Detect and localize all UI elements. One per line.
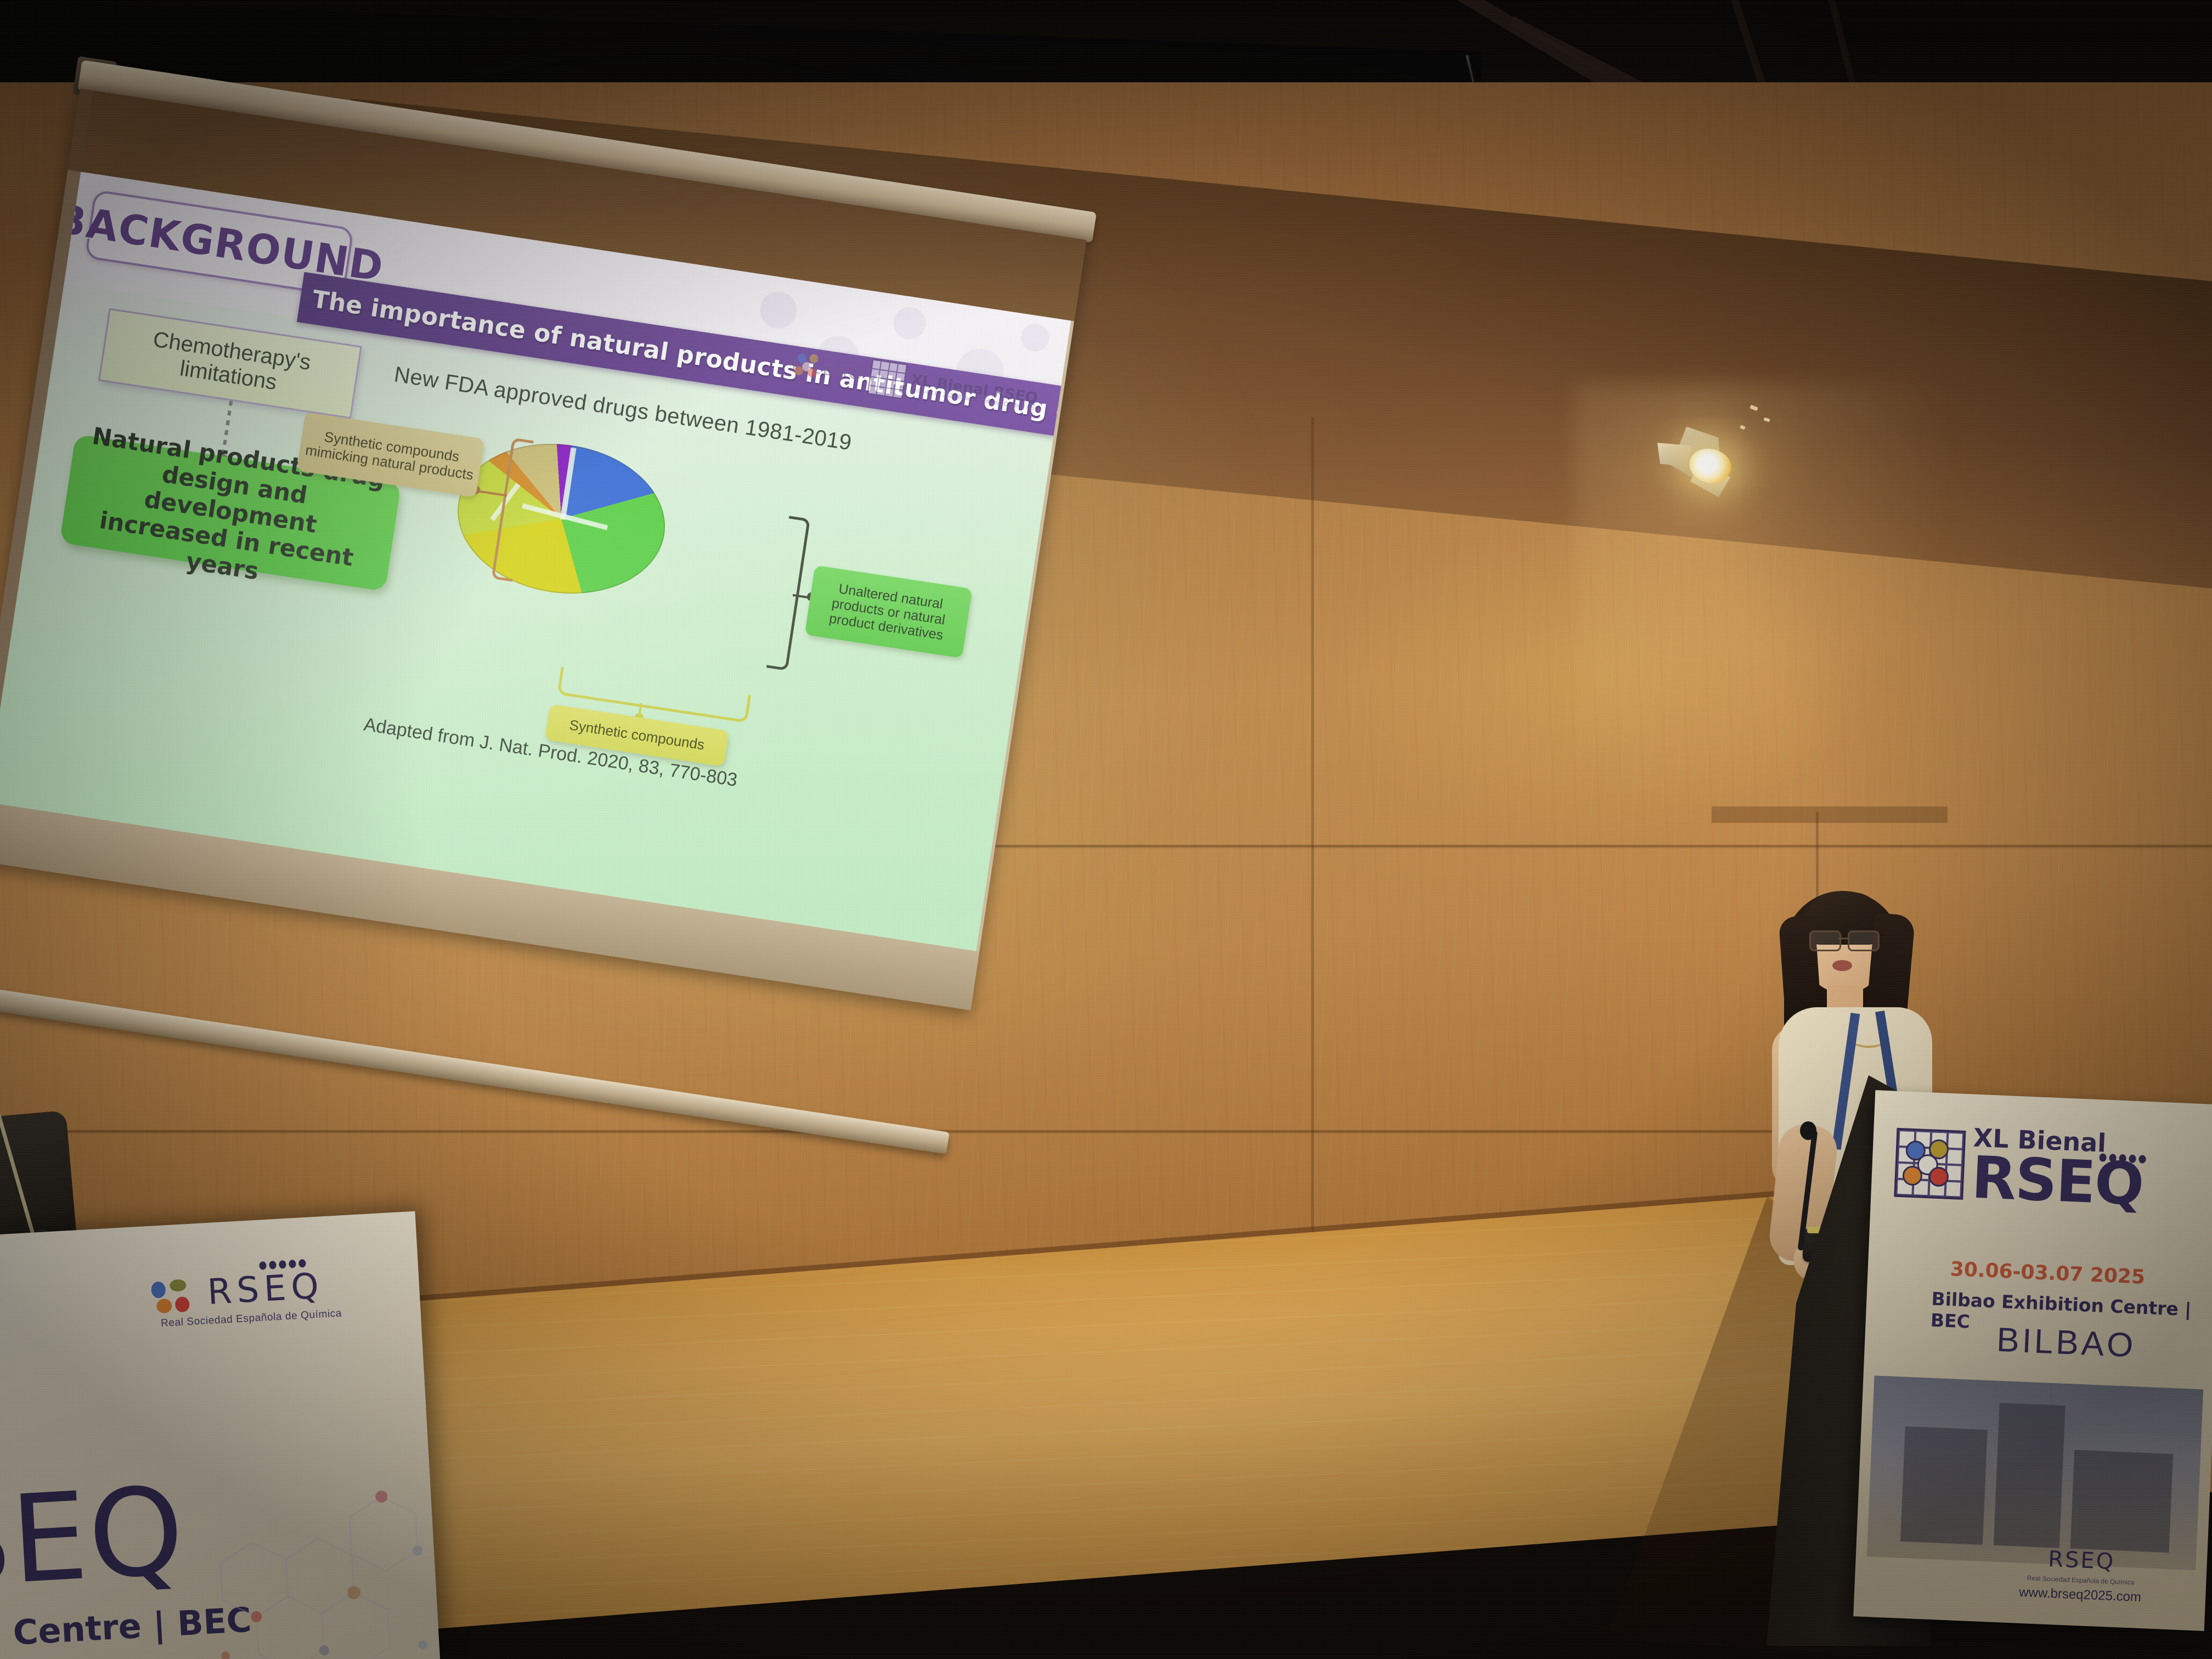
foreground-banner: RSEQ Real Sociedad Española de Química S… [0, 1211, 440, 1659]
bracket-right [766, 516, 810, 671]
banner-big-label: SEQ [0, 1460, 188, 1615]
screen-surface: BACKGROUND The importance of natural pro… [0, 88, 1086, 1010]
banner-big-text: SEQ [0, 1460, 188, 1615]
spotlight-barn-door [1657, 442, 1692, 468]
rseq-molecule-icon [150, 1278, 202, 1316]
podium-photo-image [1867, 1375, 2203, 1570]
projection-screen: BACKGROUND The importance of natural pro… [0, 66, 1227, 1161]
rseq-grid-icon [867, 358, 908, 399]
podium-url: www.brseq2025.com [2019, 1585, 2142, 1605]
mouth [1832, 960, 1852, 971]
stage-chair [0, 1110, 77, 1243]
podium-title-block: XL Bienal RSEQ [1971, 1126, 2145, 1212]
glasses-lens [1809, 930, 1841, 951]
glasses-lens [1848, 930, 1880, 951]
podium-signage-panel: XL Bienal RSEQ 30.06-03.07 2025 Bilbao E… [1853, 1090, 2212, 1631]
banner-logo-label: RSEQ [206, 1266, 325, 1313]
hexagon-molecule-pattern [166, 1451, 440, 1659]
wall-panel-seam [1311, 417, 1314, 1350]
podium-logo-block: XL Bienal RSEQ [1894, 1123, 2145, 1212]
podium-footer-logo: RSEQ [2047, 1547, 2115, 1575]
rseq-grid-icon [1894, 1128, 1966, 1200]
conference-photo: BACKGROUND The importance of natural pro… [0, 0, 2212, 1659]
podium-footer-sub: Real Sociedad Española de Química [2027, 1574, 2135, 1586]
podium-footer: RSEQ Real Sociedad Española de Química w… [2019, 1545, 2143, 1605]
label-unaltered-natural: Unaltered natural products or natural pr… [805, 565, 973, 658]
podium-org-label: RSEQ [1971, 1150, 2144, 1212]
podium-city: BILBAO [1996, 1321, 2137, 1365]
chemotherapy-limitations-label: Chemotherapy's limitations [101, 320, 358, 407]
door-header [1712, 806, 1948, 823]
label-unaltered-natural-text: Unaltered natural products or natural pr… [806, 577, 970, 646]
glasses-bridge [1838, 938, 1849, 939]
glasses-icon [1809, 930, 1880, 949]
banner-logo-text: RSEQ [206, 1266, 325, 1313]
podium-dates: 30.06-03.07 2025 [1950, 1258, 2146, 1289]
podium: XL Bienal RSEQ 30.06-03.07 2025 Bilbao E… [1767, 1075, 2212, 1659]
hexagon-svg [166, 1451, 440, 1659]
banner-logo-block: RSEQ [149, 1266, 325, 1316]
